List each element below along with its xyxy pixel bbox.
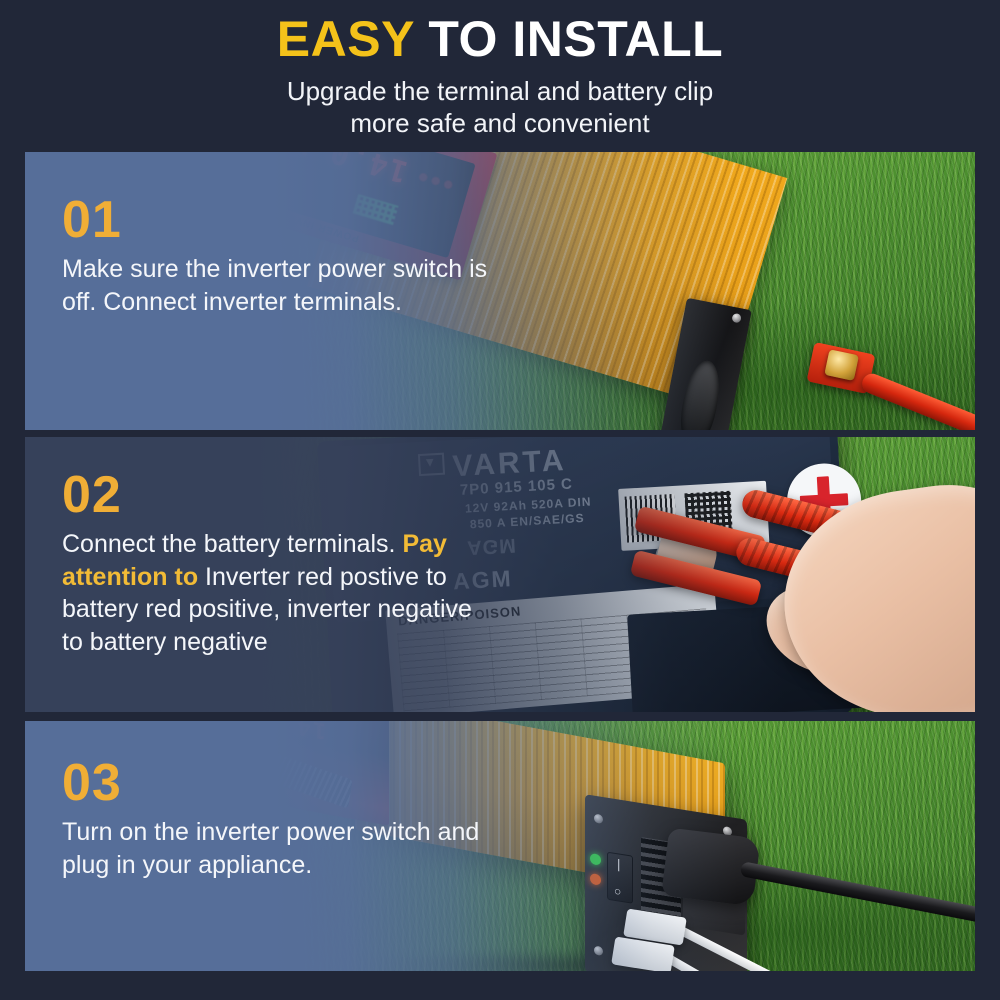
step-text-before: Connect the battery terminals. [62, 530, 402, 558]
subtitle-line-2: more safe and convenient [0, 107, 1000, 139]
step-1-content: 01 Make sure the inverter power switch i… [62, 194, 492, 318]
step-panel-2: VARTA 7P0 915 105 C 12V 92Ah 520A DIN 85… [25, 437, 975, 712]
subtitle-line-1: Upgrade the terminal and battery clip [0, 75, 1000, 107]
title-highlight: EASY [277, 11, 414, 67]
step-description: Make sure the inverter power switch is o… [62, 253, 492, 318]
title-rest: TO INSTALL [414, 11, 723, 67]
step-2-content: 02 Connect the battery terminals. Pay at… [62, 469, 492, 658]
step-number: 01 [62, 194, 492, 246]
step-3-content: 03 Turn on the inverter power switch and… [62, 757, 492, 881]
header: EASY TO INSTALL Upgrade the terminal and… [0, 0, 1000, 148]
step-number: 03 [62, 757, 492, 809]
step-text-before: Turn on the inverter power switch and pl… [62, 818, 479, 879]
step-description: Turn on the inverter power switch and pl… [62, 816, 492, 881]
step-panel-1: 14.0 V POWER INVERTER 01 Make sure the i… [25, 152, 975, 430]
step-description: Connect the battery terminals. Pay atten… [62, 528, 492, 658]
page-title: EASY TO INSTALL [0, 14, 1000, 64]
step-number: 02 [62, 469, 492, 521]
step-panel-3: 14.0 V 231 V 03 Turn on the inverter pow… [25, 721, 975, 971]
step-text-before: Make sure the inverter power switch is o… [62, 255, 487, 316]
subtitle: Upgrade the terminal and battery clip mo… [0, 75, 1000, 139]
